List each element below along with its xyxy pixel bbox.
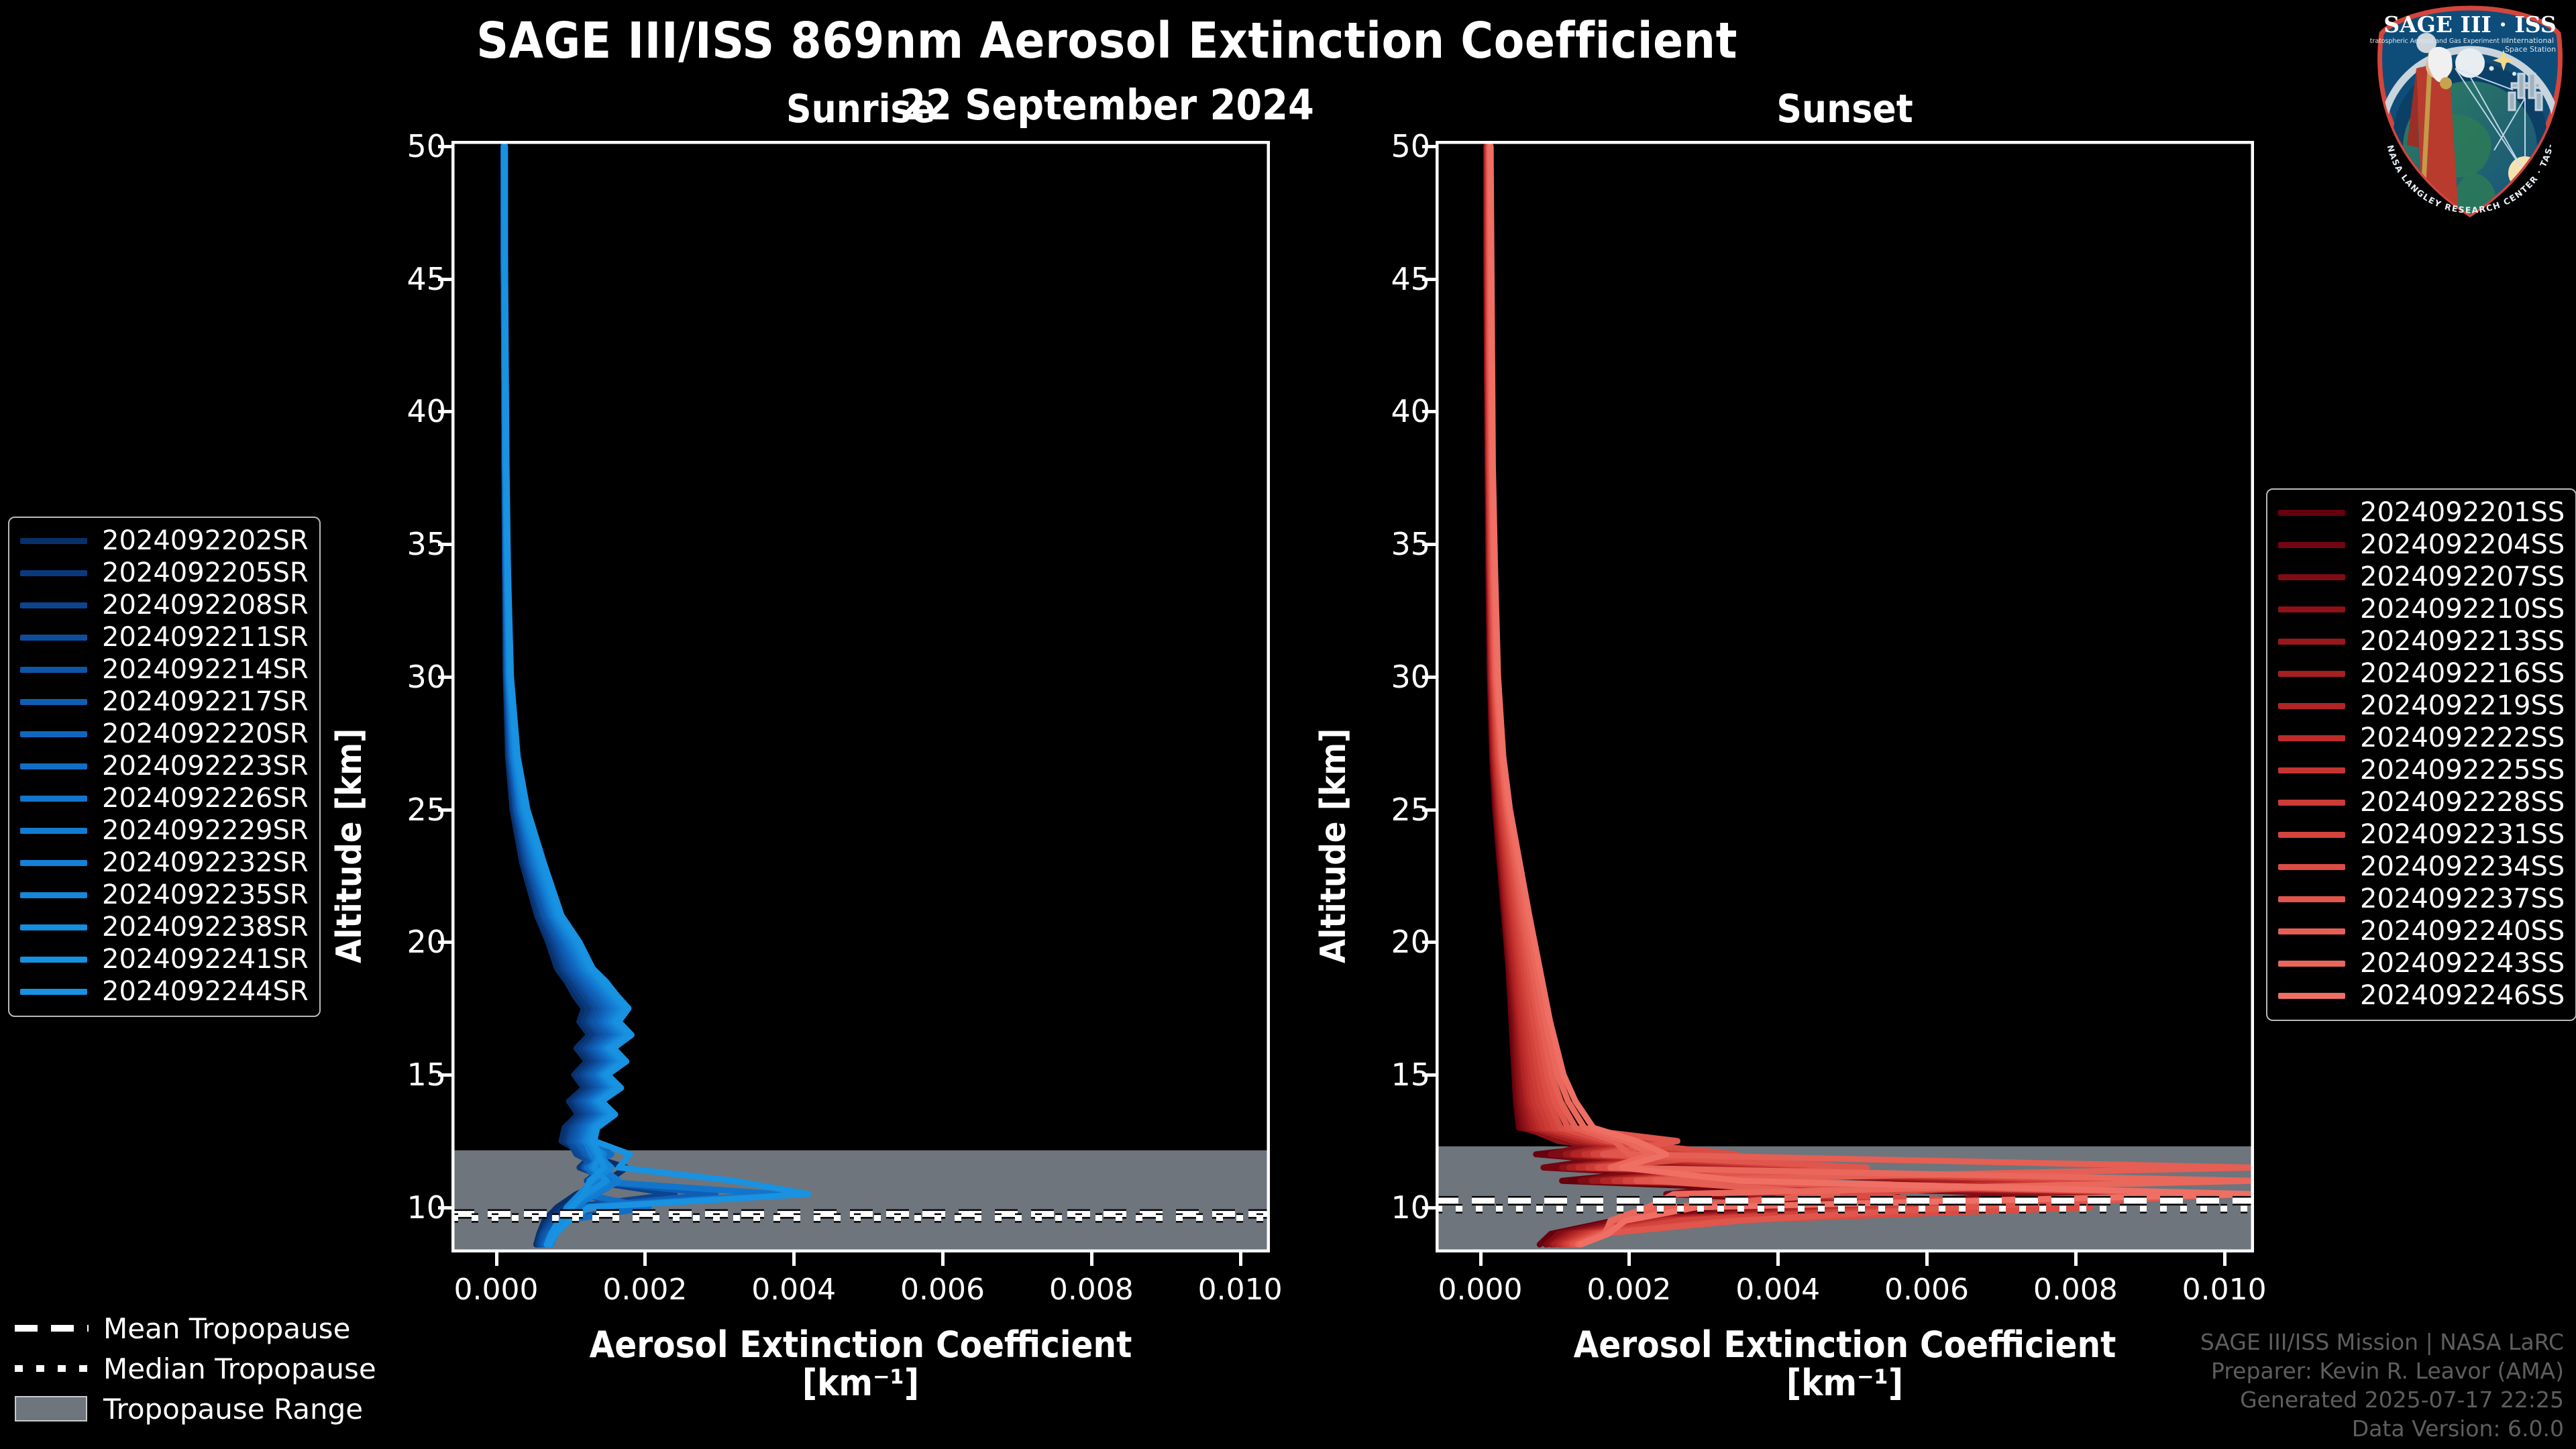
legend-color-swatch	[20, 731, 87, 737]
legend-item[interactable]: 2024092231SS	[2278, 818, 2565, 851]
legend-item-label: 2024092244SR	[102, 976, 309, 1007]
legend-item[interactable]: 2024092204SS	[2278, 529, 2565, 561]
legend-item-label: 2024092214SR	[102, 654, 309, 685]
legend-color-swatch	[2278, 928, 2345, 934]
legend-color-swatch	[20, 570, 87, 576]
y-tick-mark	[438, 145, 451, 148]
legend-item-label: 2024092205SR	[102, 557, 309, 588]
legend-item-label: 2024092222SS	[2360, 722, 2565, 753]
y-tick-mark	[438, 543, 451, 546]
legend-color-swatch	[20, 763, 87, 769]
x-tick-mark	[643, 1252, 647, 1266]
legend-item[interactable]: 2024092223SR	[20, 750, 309, 782]
legend-item[interactable]: 2024092216SS	[2278, 657, 2565, 690]
legend-color-swatch	[20, 989, 87, 995]
legend-item-label: 2024092211SR	[102, 622, 309, 653]
credit-line-version: Data Version: 6.0.0	[2200, 1415, 2564, 1444]
median-tropopause-label: Median Tropopause	[103, 1352, 376, 1385]
sunrise-legend[interactable]: 2024092202SR2024092205SR2024092208SR2024…	[8, 517, 321, 1017]
x-axis-label-line2: [km⁻¹]	[411, 1364, 1310, 1403]
legend-item-label: 2024092232SR	[102, 847, 309, 878]
legend-item-label: 2024092228SS	[2360, 787, 2565, 818]
legend-item[interactable]: 2024092220SR	[20, 718, 309, 750]
x-tick-label: 0.002	[602, 1273, 687, 1307]
x-tick-label: 0.010	[1198, 1273, 1283, 1307]
legend-item[interactable]: 2024092222SS	[2278, 722, 2565, 754]
y-tick-mark	[438, 278, 451, 281]
legend-color-swatch	[20, 957, 87, 963]
x-axis-label-line2: [km⁻¹]	[1395, 1364, 2294, 1403]
legend-color-swatch	[20, 699, 87, 705]
legend-color-swatch	[20, 635, 87, 641]
x-tick-mark	[1776, 1252, 1780, 1266]
y-tick-mark	[1422, 145, 1436, 148]
legend-color-swatch	[20, 538, 87, 544]
legend-color-swatch	[2278, 832, 2345, 838]
x-tick-label: 0.004	[1735, 1273, 1820, 1307]
y-axis-label: Altitude [km]	[329, 729, 370, 963]
legend-item-tropopause-range: Tropopause Range	[15, 1389, 376, 1429]
legend-item[interactable]: 2024092234SS	[2278, 851, 2565, 883]
legend-item[interactable]: 2024092232SR	[20, 847, 309, 879]
legend-item-label: 2024092208SR	[102, 590, 309, 621]
legend-item[interactable]: 2024092213SS	[2278, 625, 2565, 657]
logo-subtitle-right-1: International	[2507, 36, 2554, 45]
y-tick-mark	[1422, 543, 1436, 546]
legend-item[interactable]: 2024092202SR	[20, 525, 309, 557]
x-tick-label: 0.002	[1587, 1273, 1671, 1307]
sunrise-panel-title: Sunrise	[451, 86, 1270, 131]
sunrise-plot-panel	[451, 141, 1270, 1252]
legend-item-label: 2024092243SS	[2360, 948, 2565, 979]
x-tick-label: 0.004	[751, 1273, 836, 1307]
legend-item[interactable]: 2024092238SR	[20, 911, 309, 943]
legend-item-label: 2024092213SS	[2360, 626, 2565, 657]
legend-color-swatch	[20, 892, 87, 898]
legend-color-swatch	[2278, 510, 2345, 516]
legend-item-label: 2024092217SR	[102, 686, 309, 717]
legend-color-swatch	[2278, 864, 2345, 870]
legend-item-label: 2024092220SR	[102, 718, 309, 749]
dashed-line-icon	[15, 1320, 89, 1337]
y-tick-mark	[438, 1073, 451, 1077]
y-tick-mark	[438, 1206, 451, 1210]
dotted-line-icon	[15, 1360, 89, 1377]
legend-color-swatch	[2278, 800, 2345, 806]
legend-item-label: 2024092204SS	[2360, 529, 2565, 560]
logo-subtitle-left: Stratospheric Aerosol and Gas Experiment…	[2369, 38, 2507, 45]
plot-background	[451, 141, 1270, 1252]
logo-subtitle-right-2: Space Station	[2505, 45, 2556, 54]
y-tick-mark	[1422, 808, 1436, 812]
legend-item-label: 2024092240SS	[2360, 916, 2565, 947]
x-tick-label: 0.000	[1438, 1273, 1523, 1307]
x-tick-mark	[1627, 1252, 1631, 1266]
tropopause-range-label: Tropopause Range	[103, 1393, 363, 1426]
logo-title: SAGE III · ISS	[2383, 11, 2556, 38]
legend-item-label: 2024092207SS	[2360, 561, 2565, 592]
y-tick-mark	[1422, 410, 1436, 413]
legend-color-swatch	[2278, 993, 2345, 999]
x-tick-mark	[792, 1252, 796, 1266]
x-tick-label: 0.008	[2033, 1273, 2118, 1307]
legend-item-label: 2024092223SR	[102, 751, 309, 782]
legend-item-label: 2024092238SR	[102, 912, 309, 943]
legend-color-swatch	[2278, 574, 2345, 580]
legend-item-label: 2024092235SR	[102, 879, 309, 910]
x-tick-mark	[2074, 1252, 2078, 1266]
y-tick-mark	[438, 808, 451, 812]
legend-color-swatch	[2278, 896, 2345, 902]
legend-item[interactable]: 2024092205SR	[20, 557, 309, 589]
legend-item[interactable]: 2024092240SS	[2278, 915, 2565, 947]
x-tick-mark	[941, 1252, 945, 1266]
legend-color-swatch	[2278, 735, 2345, 741]
legend-item[interactable]: 2024092217SR	[20, 686, 309, 718]
y-tick-mark	[1422, 676, 1436, 679]
legend-color-swatch	[2278, 703, 2345, 709]
y-axis-label: Altitude [km]	[1313, 729, 1354, 963]
legend-item[interactable]: 2024092210SS	[2278, 593, 2565, 625]
legend-item-median-tropopause: Median Tropopause	[15, 1348, 376, 1389]
legend-color-swatch	[2278, 961, 2345, 967]
y-tick-mark	[1422, 278, 1436, 281]
x-tick-mark	[1479, 1252, 1483, 1266]
shaded-band-icon	[15, 1400, 89, 1417]
legend-item-label: 2024092219SS	[2360, 690, 2565, 721]
legend-item-label: 2024092246SS	[2360, 980, 2565, 1011]
legend-color-swatch	[2278, 671, 2345, 677]
legend-item-label: 2024092225SS	[2360, 755, 2565, 786]
legend-item-label: 2024092202SR	[102, 525, 309, 556]
legend-item[interactable]: 2024092228SS	[2278, 786, 2565, 818]
tropopause-legend: Mean Tropopause Median Tropopause Tropop…	[15, 1308, 376, 1429]
legend-color-swatch	[2278, 606, 2345, 612]
legend-color-swatch	[20, 860, 87, 866]
legend-item[interactable]: 2024092225SS	[2278, 754, 2565, 786]
page-title: SAGE III/ISS 869nm Aerosol Extinction Co…	[0, 12, 2214, 70]
legend-color-swatch	[20, 667, 87, 673]
x-axis-label-line1: Aerosol Extinction Coefficient	[1395, 1326, 2294, 1364]
sunset-legend[interactable]: 2024092201SS2024092204SS2024092207SS2024…	[2266, 488, 2576, 1021]
x-tick-mark	[495, 1252, 498, 1266]
legend-item[interactable]: 2024092214SR	[20, 653, 309, 686]
legend-color-swatch	[20, 828, 87, 834]
legend-item[interactable]: 2024092243SS	[2278, 947, 2565, 979]
legend-item[interactable]: 2024092207SS	[2278, 561, 2565, 593]
legend-item-label: 2024092234SS	[2360, 851, 2565, 882]
sage-iii-iss-mission-logo: BALL · NASA LANGLEY RESEARCH CENTER · TA…	[2369, 4, 2571, 219]
legend-item-label: 2024092237SS	[2360, 883, 2565, 914]
y-tick-mark	[438, 941, 451, 944]
legend-item-label: 2024092210SS	[2360, 594, 2565, 625]
legend-item[interactable]: 2024092237SS	[2278, 883, 2565, 915]
legend-color-swatch	[2278, 542, 2345, 548]
x-tick-label: 0.006	[1884, 1273, 1969, 1307]
legend-item-label: 2024092241SR	[102, 944, 309, 975]
legend-item[interactable]: 2024092226SR	[20, 782, 309, 814]
x-axis-label-line1: Aerosol Extinction Coefficient	[411, 1326, 1310, 1364]
legend-item-label: 2024092226SR	[102, 783, 309, 814]
x-tick-mark	[2223, 1252, 2226, 1266]
legend-item[interactable]: 2024092201SS	[2278, 496, 2565, 529]
legend-item-label: 2024092229SR	[102, 815, 309, 846]
legend-item-label: 2024092201SS	[2360, 497, 2565, 528]
legend-color-swatch	[20, 924, 87, 930]
y-tick-mark	[1422, 1073, 1436, 1077]
legend-color-swatch	[2278, 639, 2345, 645]
legend-color-swatch	[20, 602, 87, 608]
legend-item[interactable]: 2024092229SR	[20, 814, 309, 847]
legend-color-swatch	[2278, 767, 2345, 773]
legend-item[interactable]: 2024092246SS	[2278, 979, 2565, 1012]
x-tick-mark	[1239, 1252, 1242, 1266]
legend-item[interactable]: 2024092244SR	[20, 975, 309, 1008]
x-tick-label: 0.006	[900, 1273, 985, 1307]
legend-item-mean-tropopause: Mean Tropopause	[15, 1308, 376, 1348]
legend-item-label: 2024092231SS	[2360, 819, 2565, 850]
legend-item[interactable]: 2024092208SR	[20, 589, 309, 621]
legend-color-swatch	[20, 796, 87, 802]
plot-area	[1436, 141, 2254, 1252]
y-tick-mark	[1422, 1206, 1436, 1210]
legend-item[interactable]: 2024092241SR	[20, 943, 309, 975]
legend-item[interactable]: 2024092211SR	[20, 621, 309, 653]
x-tick-label: 0.008	[1049, 1273, 1134, 1307]
plot-area	[451, 141, 1270, 1252]
x-tick-mark	[1090, 1252, 1093, 1266]
x-tick-mark	[1925, 1252, 1929, 1266]
legend-item[interactable]: 2024092219SS	[2278, 690, 2565, 722]
y-tick-mark	[438, 410, 451, 413]
y-tick-mark	[1422, 941, 1436, 944]
sunset-plot-panel	[1436, 141, 2254, 1252]
y-tick-mark	[438, 676, 451, 679]
x-tick-label: 0.010	[2182, 1273, 2267, 1307]
x-tick-label: 0.000	[454, 1273, 539, 1307]
legend-item[interactable]: 2024092235SR	[20, 879, 309, 911]
legend-item-label: 2024092216SS	[2360, 658, 2565, 689]
sunset-panel-title: Sunset	[1436, 86, 2254, 131]
mean-tropopause-label: Mean Tropopause	[103, 1312, 350, 1345]
